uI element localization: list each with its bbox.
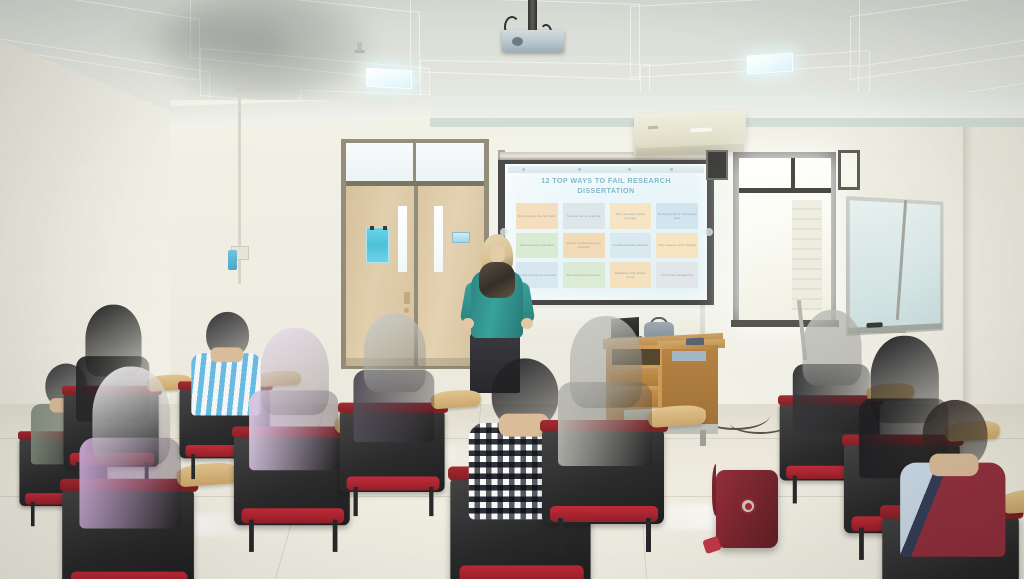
classroom-photo: 12 TOP WAYS TO FAIL RESEARCH DISSERTATIO… xyxy=(0,0,1024,579)
student-hijab xyxy=(92,366,170,465)
chair-leg-left xyxy=(859,528,864,560)
audience xyxy=(0,0,1024,579)
chair-seat xyxy=(242,508,345,523)
chair-leg-left xyxy=(558,518,563,552)
chair-seat xyxy=(460,565,584,579)
student-hijab xyxy=(364,313,426,392)
chair-leg-right xyxy=(429,487,433,516)
chair-leg-left xyxy=(249,520,254,552)
chair-leg-left xyxy=(191,454,195,479)
chair-leg-left xyxy=(31,502,35,526)
chair-leg-right xyxy=(333,520,338,552)
chair-leg-left xyxy=(353,487,357,516)
chair-seat xyxy=(550,506,658,522)
chair-seat xyxy=(71,572,188,579)
backpack-logo-inner xyxy=(745,503,752,510)
chair-seat xyxy=(347,477,440,491)
chair-leg-right xyxy=(646,518,651,552)
tablet-arm[interactable] xyxy=(647,404,706,428)
student-grey-hijab-center xyxy=(540,310,710,550)
student-maroon-jacket xyxy=(880,382,1024,579)
student-torso xyxy=(900,463,1005,557)
student-hijab xyxy=(570,316,642,408)
student-neck xyxy=(929,454,978,476)
student-hijab xyxy=(261,328,329,415)
chair-leg-left xyxy=(793,476,797,504)
